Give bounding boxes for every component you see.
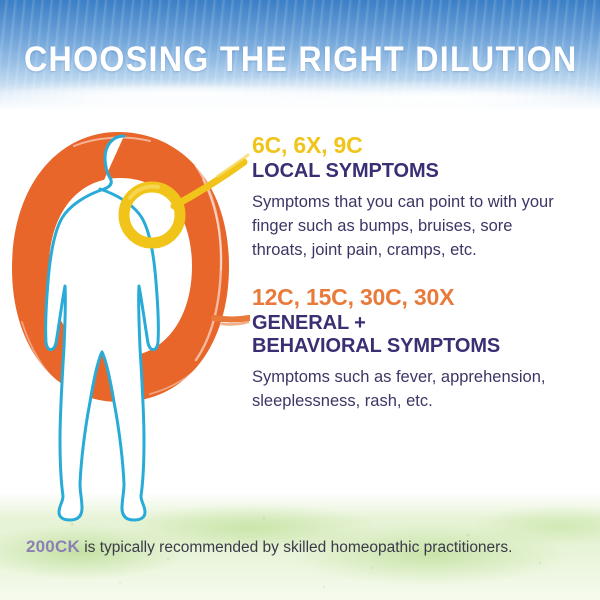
dilution-list-general: 12C, 15C, 30C, 30X: [252, 284, 592, 311]
symptom-heading-general: GENERAL + BEHAVIORAL SYMPTOMS: [252, 312, 592, 358]
page-title: CHOOSING THE RIGHT DILUTION: [24, 41, 576, 79]
symptom-heading-general-line2: BEHAVIORAL SYMPTOMS: [252, 335, 500, 357]
footer-note-text: is typically recommended by skilled home…: [80, 539, 512, 556]
symptom-heading-general-line1: GENERAL +: [252, 312, 366, 334]
infographic-canvas: CHOOSING THE RIGHT DILUTION: [0, 0, 600, 600]
symptom-heading-local: LOCAL SYMPTOMS: [252, 160, 592, 183]
symptom-body-local: Symptoms that you can point to with your…: [252, 190, 572, 262]
dilution-block-general: 12C, 15C, 30C, 30X GENERAL + BEHAVIORAL …: [252, 284, 592, 413]
dilution-list-local: 6C, 6X, 9C: [252, 132, 592, 159]
content-column: 6C, 6X, 9C LOCAL SYMPTOMS Symptoms that …: [252, 132, 592, 413]
dilution-block-local: 6C, 6X, 9C LOCAL SYMPTOMS Symptoms that …: [252, 132, 592, 262]
illustration-group: [0, 110, 250, 530]
header-bottom-wash: [0, 78, 600, 112]
symptom-body-general: Symptoms such as fever, apprehension, sl…: [252, 365, 572, 413]
footer-dilution-label: 200CK: [26, 537, 80, 556]
footer-note: 200CK is typically recommended by skille…: [26, 537, 586, 558]
